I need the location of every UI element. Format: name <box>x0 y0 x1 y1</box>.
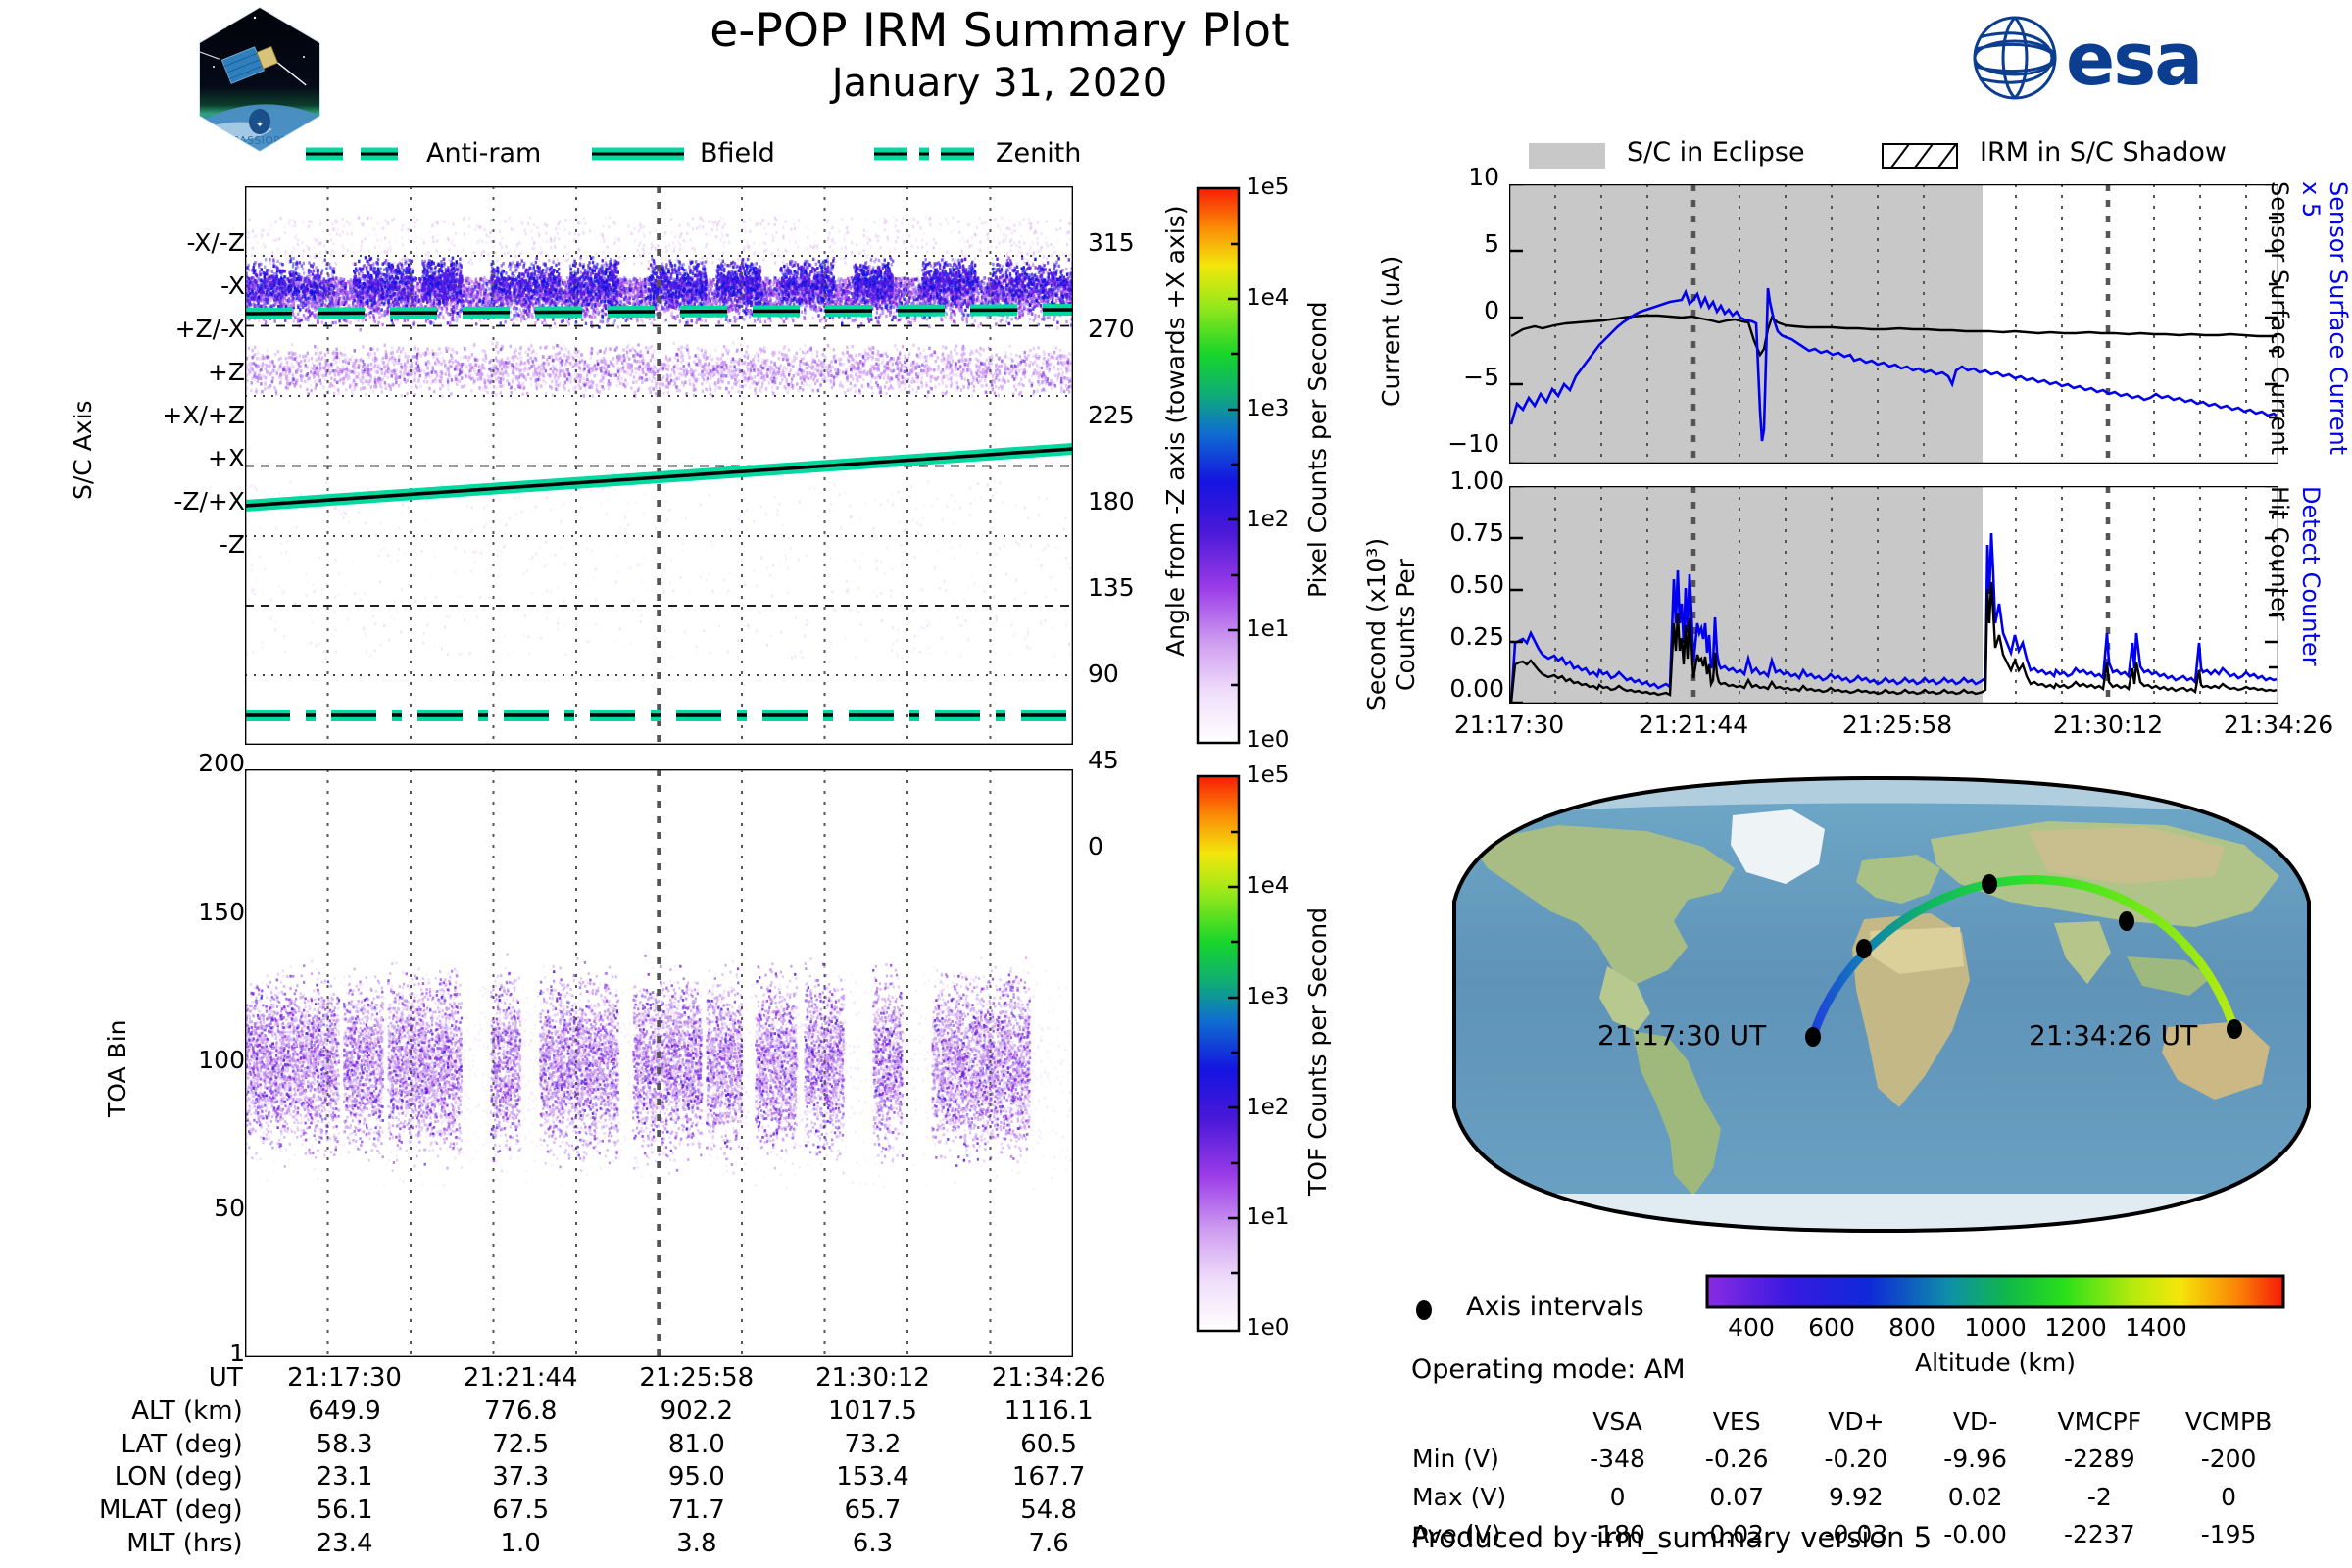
toa-bin-plot[interactable] <box>245 769 1073 1357</box>
shadow-hatch-swatch-icon <box>1882 143 1958 169</box>
cbar-tick: 1000 <box>1951 1313 2039 1342</box>
ytick-label: 1.00 <box>1449 466 1504 495</box>
ytick-label: 150 <box>198 898 245 926</box>
cell: 67.5 <box>432 1494 609 1528</box>
cell: 73.2 <box>785 1429 961 1462</box>
cell: -2289 <box>2034 1441 2164 1478</box>
cell: 23.1 <box>257 1461 433 1494</box>
ytick-label: 0.25 <box>1449 622 1504 651</box>
cell: -0.26 <box>1677 1441 1796 1478</box>
legend-label-zenith: Zenith <box>996 138 1081 169</box>
toa-bin-ylabel: TOA Bin <box>103 990 131 1117</box>
row-label: Max (V) <box>1411 1479 1558 1516</box>
cbar-tick: 1200 <box>2032 1313 2120 1342</box>
cell: 81.0 <box>609 1429 785 1462</box>
zenith-legend-swatch-icon <box>872 145 980 163</box>
counts-right-label-black: Hit Counter <box>2266 486 2293 711</box>
col-header: VD- <box>1916 1403 2035 1441</box>
page-title: e-POP IRM Summary Plot <box>608 4 1392 58</box>
eclipse-region <box>1509 184 1983 464</box>
row-label: Min (V) <box>1411 1441 1558 1478</box>
bfield-legend-swatch-icon <box>590 145 688 163</box>
cell: 54.8 <box>960 1494 1137 1528</box>
cell: 153.4 <box>785 1461 961 1494</box>
track-end-label: 21:34:26 UT <box>2029 1019 2197 1052</box>
cell: 6.3 <box>785 1528 961 1561</box>
produced-by-footer: Produced by irm_summary version 5 <box>1411 1521 1932 1554</box>
svg-text:esa: esa <box>2066 18 2201 102</box>
table-row: LON (deg) 23.1 37.3 95.0 153.4 167.7 <box>39 1461 1137 1494</box>
ytick-label: 200 <box>198 749 245 777</box>
cell: 1116.1 <box>960 1396 1137 1429</box>
xtick-label: 21:25:58 <box>1805 710 1989 739</box>
cbar-tick: 1e3 <box>1247 984 1289 1009</box>
cell: 56.1 <box>257 1494 433 1528</box>
cbar-tick: 1e0 <box>1247 1315 1289 1341</box>
cbar-tick: 1e1 <box>1247 1204 1289 1230</box>
cbar-tick: 600 <box>1792 1313 1871 1342</box>
ytick-label: 0.75 <box>1449 518 1504 547</box>
ytick-label-angle: 0 <box>1088 832 1103 860</box>
cell: 23.4 <box>257 1528 433 1561</box>
cell: 21:30:12 <box>785 1362 961 1396</box>
cell: 0 <box>2164 1479 2293 1516</box>
cbar-tick: 1400 <box>2112 1313 2200 1342</box>
cbar-tick: 1e1 <box>1247 616 1289 642</box>
cell: 21:21:44 <box>432 1362 609 1396</box>
anti-ram-legend-swatch-icon <box>304 145 412 163</box>
orbit-map[interactable] <box>1441 774 2323 1235</box>
cell: 167.7 <box>960 1461 1137 1494</box>
cell: 3.8 <box>609 1528 785 1561</box>
esa-logo-icon: esa <box>1960 14 2254 102</box>
cell: 21:25:58 <box>609 1362 785 1396</box>
counts-ylabel: Counts Per Second (x10³) <box>1362 480 1421 725</box>
cassiope-mission-badge-icon: ✦ CASSIOPE <box>196 6 323 153</box>
cell: 0 <box>1558 1479 1678 1516</box>
page-subtitle: January 31, 2020 <box>608 61 1392 106</box>
ytick-label: +Z <box>208 358 245 386</box>
cell: 65.7 <box>785 1494 961 1528</box>
ytick-label-angle: 270 <box>1088 315 1135 343</box>
cbar-tick: 800 <box>1873 1313 1951 1342</box>
row-label: MLT (hrs) <box>39 1528 257 1561</box>
ytick-label-angle: 180 <box>1088 487 1135 515</box>
xtick-label: 21:17:30 <box>1417 710 1601 739</box>
ytick-label: 0 <box>1484 296 1499 324</box>
cbar-tick: 1e5 <box>1247 762 1289 788</box>
row-label: ALT (km) <box>39 1396 257 1429</box>
table-header-row: VSA VES VD+ VD- VMCPF VCMPB <box>1411 1403 2293 1441</box>
current-right-label-black: Sensor Surface Current <box>2266 181 2293 465</box>
cell: 60.5 <box>960 1429 1137 1462</box>
ephemeris-table: UT 21:17:30 21:21:44 21:25:58 21:30:12 2… <box>39 1362 1137 1561</box>
ytick-label: 5 <box>1484 229 1499 258</box>
cell: 9.92 <box>1796 1479 1916 1516</box>
tof-counts-colorbar-label: TOF Counts per Second <box>1303 823 1332 1196</box>
counts-ylabel-line2: Second (x10³) <box>1362 505 1391 710</box>
xtick-label: 21:21:44 <box>1601 710 1786 739</box>
ytick-label-angle: 135 <box>1088 573 1135 602</box>
legend-label-anti-ram: Anti-ram <box>426 138 541 169</box>
ytick-label: +Z/-X <box>175 315 245 343</box>
ytick-label: 100 <box>198 1046 245 1074</box>
cell: 58.3 <box>257 1429 433 1462</box>
col-header: VCMPB <box>2164 1403 2293 1441</box>
ytick-label-angle: 45 <box>1088 746 1119 774</box>
table-row: MLAT (deg) 56.1 67.5 71.7 65.7 54.8 <box>39 1494 1137 1528</box>
ytick-label-angle: 90 <box>1088 660 1119 688</box>
xtick-label: 21:34:26 <box>2186 710 2352 739</box>
table-row: MLT (hrs) 23.4 1.0 3.8 6.3 7.6 <box>39 1528 1137 1561</box>
table-row: UT 21:17:30 21:21:44 21:25:58 21:30:12 2… <box>39 1362 1137 1396</box>
ytick-label: +X/+Z <box>162 401 245 429</box>
eclipse-swatch-icon <box>1529 143 1605 169</box>
sc-axis-right-ylabel: Angle from -Z axis (towards +X axis) <box>1161 196 1190 657</box>
ytick-label: 0.50 <box>1449 570 1504 599</box>
legend-label-bfield: Bfield <box>700 138 775 169</box>
cbar-tick: 1e0 <box>1247 727 1289 753</box>
cell: -9.96 <box>1916 1441 2035 1478</box>
col-header: VES <box>1677 1403 1796 1441</box>
cell: 21:17:30 <box>257 1362 433 1396</box>
ytick-label: −5 <box>1463 363 1499 391</box>
table-row: LAT (deg) 58.3 72.5 81.0 73.2 60.5 <box>39 1429 1137 1462</box>
cell: 1.0 <box>432 1528 609 1561</box>
ytick-label: +X <box>208 444 245 472</box>
cell: 0.07 <box>1677 1479 1796 1516</box>
ytick-label-angle: 225 <box>1088 401 1135 429</box>
cell: 7.6 <box>960 1528 1137 1561</box>
cbar-tick: 1e2 <box>1247 1095 1289 1120</box>
cell: 776.8 <box>432 1396 609 1429</box>
ytick-label: -Z/+X <box>173 487 245 515</box>
table-row: ALT (km) 649.9 776.8 902.2 1017.5 1116.1 <box>39 1396 1137 1429</box>
table-row: Min (V) -348 -0.26 -0.20 -9.96 -2289 -20… <box>1411 1441 2293 1478</box>
operating-mode-label: Operating mode: AM <box>1411 1354 1686 1385</box>
current-plot[interactable] <box>1509 184 2278 464</box>
cell: 72.5 <box>432 1429 609 1462</box>
altitude-colorbar-label: Altitude (km) <box>1705 1348 2285 1377</box>
cell: 95.0 <box>609 1461 785 1494</box>
counts-ylabel-line1: Counts Per <box>1392 524 1420 691</box>
col-header: VD+ <box>1796 1403 1916 1441</box>
tof-counts-colorbar <box>1196 774 1241 1333</box>
pixel-counts-colorbar-label: Pixel Counts per Second <box>1303 225 1332 598</box>
overlay-legend: Anti-ram Bfield Zenith <box>245 137 1088 176</box>
cell: -0.20 <box>1796 1441 1916 1478</box>
cell: 0.02 <box>1916 1479 2035 1516</box>
cell: 902.2 <box>609 1396 785 1429</box>
row-label: MLAT (deg) <box>39 1494 257 1528</box>
legend-label-irm-shadow: IRM in S/C Shadow <box>1980 137 2227 168</box>
ytick-label-angle: 315 <box>1088 228 1135 257</box>
cell: 649.9 <box>257 1396 433 1429</box>
ytick-label: -X <box>220 271 245 300</box>
cell: -2237 <box>2034 1516 2164 1553</box>
pixel-counts-colorbar <box>1196 186 1241 745</box>
cell: 37.3 <box>432 1461 609 1494</box>
ytick-label: -Z <box>220 530 245 559</box>
cell: 1017.5 <box>785 1396 961 1429</box>
cell: -0.00 <box>1916 1516 2035 1553</box>
altitude-colorbar <box>1705 1274 2285 1309</box>
legend-label-eclipse: S/C in Eclipse <box>1627 137 1805 168</box>
sc-axis-plot[interactable] <box>245 186 1073 745</box>
cbar-tick: 1e4 <box>1247 873 1289 899</box>
ytick-label: 50 <box>214 1194 245 1222</box>
axis-intervals-label: Axis intervals <box>1466 1292 1644 1322</box>
cbar-tick: 1e3 <box>1247 396 1289 421</box>
current-ylabel: Current (uA) <box>1377 181 1405 407</box>
svg-text:✦: ✦ <box>256 121 264 130</box>
row-label: LON (deg) <box>39 1461 257 1494</box>
col-header: VMCPF <box>2034 1403 2164 1441</box>
track-start-label: 21:17:30 UT <box>1597 1019 1766 1052</box>
row-label: LAT (deg) <box>39 1429 257 1462</box>
cell: -2 <box>2034 1479 2164 1516</box>
cbar-tick: 1e2 <box>1247 507 1289 532</box>
cell: -195 <box>2164 1516 2293 1553</box>
current-right-label-blue: Sensor Surface Current x 5 <box>2297 181 2352 465</box>
ytick-label: 10 <box>1468 163 1499 191</box>
cbar-tick: 400 <box>1712 1313 1790 1342</box>
cell: -348 <box>1558 1441 1678 1478</box>
axis-interval-marker-icon <box>1411 1298 1439 1323</box>
table-row: Max (V) 0 0.07 9.92 0.02 -2 0 <box>1411 1479 2293 1516</box>
cbar-tick: 1e5 <box>1247 174 1289 200</box>
xtick-label: 21:30:12 <box>2016 710 2200 739</box>
ytick-label: -X/-Z <box>187 228 245 257</box>
cell: 71.7 <box>609 1494 785 1528</box>
sc-axis-ylabel: S/C Axis <box>69 343 97 500</box>
cell: 21:34:26 <box>960 1362 1137 1396</box>
row-label: UT <box>39 1362 257 1396</box>
cell: -200 <box>2164 1441 2293 1478</box>
ytick-label: 0.00 <box>1449 674 1504 703</box>
counts-right-label-blue: Detect Counter <box>2297 486 2325 711</box>
cbar-tick: 1e4 <box>1247 285 1289 311</box>
eclipse-shadow-legend: S/C in Eclipse IRM in S/C Shadow <box>1529 137 2313 172</box>
col-header: VSA <box>1558 1403 1678 1441</box>
ytick-label: −10 <box>1447 429 1499 458</box>
counts-plot[interactable] <box>1509 486 2278 704</box>
